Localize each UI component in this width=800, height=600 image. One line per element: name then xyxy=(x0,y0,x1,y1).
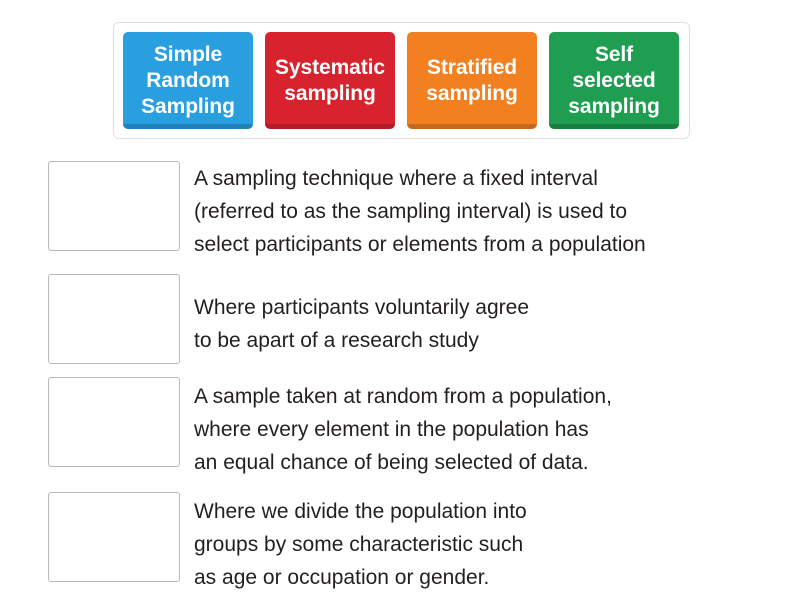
drop-target-2[interactable] xyxy=(48,274,180,364)
drop-target-1[interactable] xyxy=(48,161,180,251)
answer-rows-list: A sampling technique where a fixed inter… xyxy=(48,161,788,600)
tile-label: Self selected sampling xyxy=(553,42,675,120)
answer-row: Where we divide the population into grou… xyxy=(48,492,788,594)
drop-target-4[interactable] xyxy=(48,492,180,582)
tile-label: Simple Random Sampling xyxy=(127,42,249,120)
answer-row: A sample taken at random from a populati… xyxy=(48,377,788,479)
definition-text-1: A sampling technique where a fixed inter… xyxy=(194,161,788,261)
match-up-activity: Simple Random Sampling Systematic sampli… xyxy=(0,0,800,600)
draggable-tile-self-selected-sampling[interactable]: Self selected sampling xyxy=(549,32,679,129)
definition-text-3: A sample taken at random from a populati… xyxy=(194,377,788,479)
draggable-tile-stratified-sampling[interactable]: Stratified sampling xyxy=(407,32,537,129)
tile-label: Stratified sampling xyxy=(411,55,533,107)
definition-text-2: Where participants voluntarily agree to … xyxy=(194,274,788,357)
draggable-tile-simple-random-sampling[interactable]: Simple Random Sampling xyxy=(123,32,253,129)
drop-target-3[interactable] xyxy=(48,377,180,467)
tile-label: Systematic sampling xyxy=(269,55,391,107)
draggable-tile-systematic-sampling[interactable]: Systematic sampling xyxy=(265,32,395,129)
answer-row: A sampling technique where a fixed inter… xyxy=(48,161,788,261)
answer-row: Where participants voluntarily agree to … xyxy=(48,274,788,364)
draggable-tiles-tray: Simple Random Sampling Systematic sampli… xyxy=(113,22,690,139)
definition-text-4: Where we divide the population into grou… xyxy=(194,492,788,594)
